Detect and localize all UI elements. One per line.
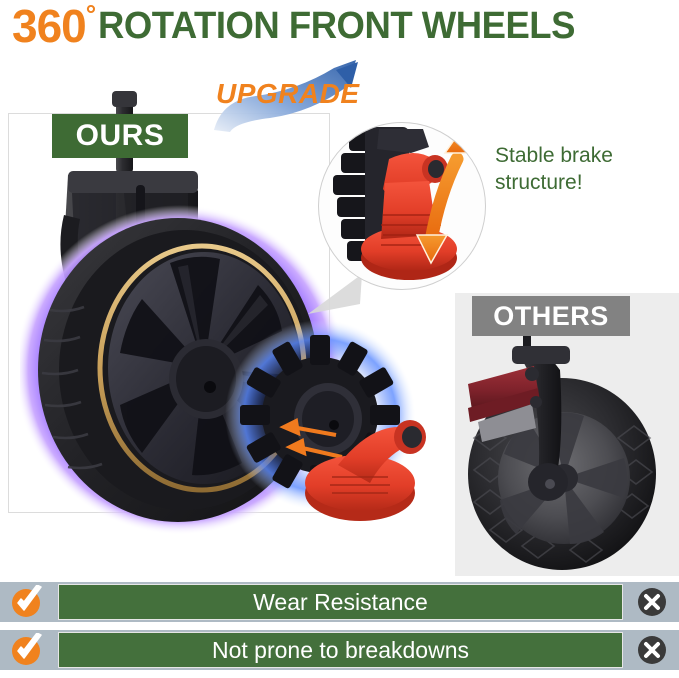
ours-badge: OURS [52, 114, 188, 158]
feature-row: Wear Resistance [0, 582, 679, 622]
title-degrees: 360 [12, 3, 86, 49]
stable-brake-callout: Stable brake structure! [495, 143, 675, 197]
upgrade-badge: UPGRADE [208, 60, 383, 130]
cross-icon [625, 630, 679, 670]
stable-brake-line-2: structure! [495, 170, 675, 197]
feature-label: Not prone to breakdowns [58, 632, 623, 668]
brake-detail-bubble [318, 122, 486, 290]
check-icon [0, 630, 56, 670]
upgrade-label: UPGRADE [216, 78, 360, 110]
feature-label: Wear Resistance [58, 584, 623, 620]
check-icon [0, 582, 56, 622]
feature-row: Not prone to breakdowns [0, 630, 679, 670]
others-badge: OTHERS [472, 296, 630, 336]
page-title: 360°ROTATION FRONT WHEELS [0, 0, 679, 52]
stable-brake-line-1: Stable brake [495, 143, 675, 170]
feature-comparison-list: Wear Resistance Not prone to breakdowns [0, 582, 679, 670]
degree-symbol-icon: ° [86, 1, 96, 27]
infographic-root: 360°ROTATION FRONT WHEELS [0, 0, 679, 678]
cross-icon [625, 582, 679, 622]
others-wheel-illustration [460, 330, 674, 576]
title-text: ROTATION FRONT WHEELS [98, 7, 575, 45]
